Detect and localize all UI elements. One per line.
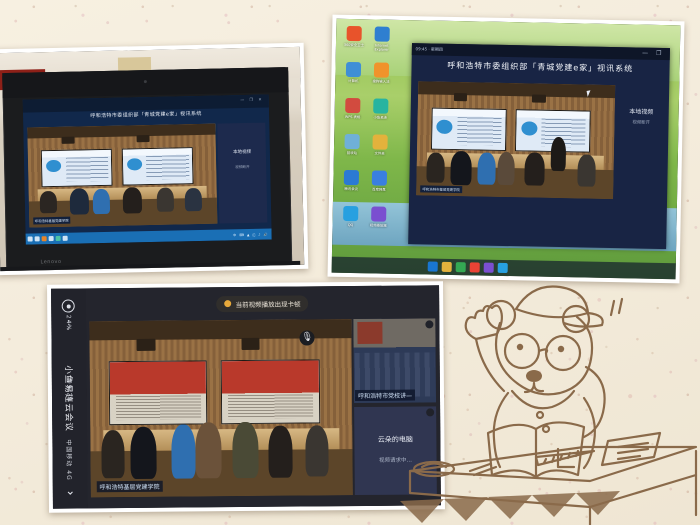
taskbar-app-icon-2[interactable] — [49, 236, 54, 241]
participant-tile-column: 呼和浩特市党校讲— 云朵的电脑 视频请求中… — [353, 318, 438, 495]
projection-screen-left — [431, 108, 506, 151]
desktop-icon-label: 360安全卫士 — [341, 43, 367, 48]
local-video-status: 视频断开 — [218, 164, 266, 170]
app-title: 呼和浩特市委组织部「青城党建e家」视讯系统 — [411, 57, 669, 82]
participant-status: 视频请求中… — [354, 456, 437, 465]
mic-icon[interactable] — [426, 408, 434, 416]
app-icon-xiaoyu — [373, 99, 388, 114]
app-icon-ie — [374, 27, 389, 42]
desktop-icon[interactable]: 回收站 — [339, 132, 365, 166]
taskbar-app-icon-4[interactable] — [470, 262, 480, 272]
window-controls[interactable]: — ❐ — [642, 49, 664, 56]
windows-taskbar[interactable]: 中 ⌨ ▲ ◫ ♪ 🔊 — [26, 228, 272, 245]
taskbar-app-icon-5[interactable] — [484, 262, 494, 272]
participant-name-label: 呼和浩特市党校讲— — [355, 389, 415, 401]
chevron-down-icon[interactable]: ⌄ — [65, 483, 75, 497]
desktop-icon[interactable]: QQ — [337, 204, 363, 238]
local-video-title: 本地视频 — [618, 106, 665, 116]
local-video-title: 本地视频 — [218, 148, 266, 155]
main-video-stage[interactable]: 呼和浩特基层党建学院 — [27, 123, 217, 227]
app-icon-computer — [346, 62, 361, 77]
status-time: 09:28 — [66, 380, 73, 402]
desktop-icon-label: 计算机 — [340, 79, 366, 84]
projector-left — [137, 338, 155, 350]
desktop-icon[interactable]: 腾讯会议 — [338, 168, 364, 202]
desktop-icon-grid[interactable]: 360安全卫士 计算机 WPS 表格 回收站 腾讯会议 QQ — [337, 24, 400, 254]
taskbar-search-icon[interactable] — [35, 236, 40, 241]
desktop-icon[interactable]: 小鱼易连 — [367, 96, 393, 130]
local-video-status: 视频断开 — [618, 119, 665, 126]
taskbar-start-icon[interactable] — [28, 236, 33, 241]
toast-notification: 当前视频播放出现卡顿 — [217, 295, 309, 312]
desktop-icon-label: 回收站 — [339, 151, 365, 156]
desktop-icon-label: Internet Explorer — [369, 43, 395, 52]
laptop-device: — ❐ ✕ 呼和浩特市委组织部「青城党建e家」视讯系统 — [2, 67, 292, 269]
video-name-label: 呼和浩特基层党建学院 — [96, 480, 162, 492]
projection-screen-right — [122, 147, 194, 186]
app-icon-sogou — [374, 63, 389, 78]
desktop-icon-label: 视频播放器 — [365, 223, 391, 228]
toast-text: 当前视频播放出现卡顿 — [236, 298, 301, 309]
record-icon[interactable] — [62, 299, 75, 312]
mic-muted-icon[interactable]: 🎙 — [300, 330, 315, 345]
classroom-scene: 呼和浩特基层党建学院 — [27, 123, 217, 227]
taskbar-app-icon-3[interactable] — [456, 262, 466, 272]
desktop-icon-label: 小鱼易连 — [367, 115, 393, 120]
desktop-icon[interactable]: 视频播放器 — [365, 204, 391, 238]
desktop-icon[interactable]: 360安全卫士 — [341, 24, 367, 58]
projector-left — [454, 93, 468, 101]
app-icon-recycle-bin — [344, 134, 359, 149]
laptop-brand-logo: Lenovo — [40, 259, 61, 265]
local-video-panel[interactable]: 本地视频 视频断开 — [218, 122, 268, 223]
app-icon-folder — [372, 135, 387, 150]
photo-card-laptop[interactable]: — ❐ ✕ 呼和浩特市委组织部「青城党建e家」视讯系统 — [0, 43, 308, 275]
photo-laptop-image: — ❐ ✕ 呼和浩特市委组织部「青城党建e家」视讯系统 — [0, 47, 304, 271]
desktop-icon[interactable]: 搜狗输入法 — [368, 60, 394, 94]
desktop-icon-label: WPS 表格 — [340, 115, 366, 120]
video-name-label: 呼和浩特市基层党建学院 — [420, 185, 461, 193]
desktop-icon[interactable]: Internet Explorer — [369, 24, 395, 58]
local-video-panel[interactable]: 本地视频 视频断开 — [616, 85, 665, 200]
app-icon-baidu-netdisk — [372, 171, 387, 186]
laptop-screen: — ❐ ✕ 呼和浩特市委组织部「青城党建e家」视讯系统 — [23, 95, 272, 245]
phone-screen: ⋮ 24% 小鱼易连云会议 09:28 中国移动 4G ⌄ 当前视频播放出现卡顿 — [51, 285, 441, 508]
desktop-icon-label: 百度网盘 — [366, 187, 392, 192]
status-bar-text: 09:45 · 星期四 — [416, 46, 443, 53]
classroom-scene: 呼和浩特市基层党建学院 — [416, 81, 614, 199]
classroom-scene: 呼和浩特基层党建学院 — [90, 319, 353, 497]
app-icon-qq — [343, 206, 358, 221]
taskbar-app-icon-6[interactable] — [498, 263, 508, 273]
taskbar-tray[interactable]: 中 ⌨ ▲ ◫ ♪ 🔊 — [233, 231, 271, 237]
projector-right — [136, 135, 149, 142]
desktop-icon[interactable]: WPS 表格 — [339, 96, 365, 130]
desktop-icon-label: 文件夹 — [367, 151, 393, 156]
taskbar-app-icon-3[interactable] — [56, 236, 61, 241]
main-video-stage[interactable]: 呼和浩特市基层党建学院 — [416, 81, 614, 199]
desktop-icon[interactable]: 文件夹 — [367, 132, 393, 166]
participant-tile-video[interactable]: 呼和浩特市党校讲— — [353, 318, 437, 403]
projection-screen-left — [41, 148, 113, 187]
taskbar-app-icon-2[interactable] — [442, 262, 452, 272]
photo-card-phone[interactable]: ⋮ 24% 小鱼易连云会议 09:28 中国移动 4G ⌄ 当前视频播放出现卡顿 — [47, 281, 445, 512]
battery-level: 24% — [65, 315, 72, 331]
projection-screen-right — [221, 360, 320, 424]
desktop-icon-label: QQ — [338, 223, 364, 228]
mic-icon[interactable] — [425, 320, 433, 328]
conference-app-window: — ❐ ✕ 呼和浩特市委组织部「青城党建e家」视讯系统 — [23, 95, 272, 245]
projector-right — [532, 95, 546, 103]
video-name-label: 呼和浩特基层党建学院 — [33, 217, 71, 225]
projection-screen-left — [108, 361, 207, 425]
participant-tile-placeholder[interactable]: 云朵的电脑 视频请求中… — [354, 406, 438, 495]
desktop-icon[interactable]: 计算机 — [340, 60, 366, 94]
phone-side-rail: ⋮ 24% 小鱼易连云会议 09:28 中国移动 4G ⌄ — [51, 288, 88, 508]
participant-name: 云朵的电脑 — [354, 434, 437, 445]
conference-app-window[interactable]: 09:45 · 星期四 — ❐ 呼和浩特市委组织部「青城党建e家」视讯系统 — [408, 43, 670, 249]
app-icon-wps — [345, 98, 360, 113]
projector-right — [241, 337, 259, 349]
photo-desktop-image: 360安全卫士 计算机 WPS 表格 回收站 腾讯会议 QQ — [332, 19, 681, 280]
phone-content-area: 当前视频播放出现卡顿 — [86, 285, 441, 508]
app-icon-video-player — [371, 206, 386, 221]
window-controls[interactable]: — ❐ ✕ — [240, 97, 264, 102]
photo-card-desktop[interactable]: 360安全卫士 计算机 WPS 表格 回收站 腾讯会议 QQ — [328, 15, 685, 284]
desktop-icon-label: 腾讯会议 — [338, 187, 364, 192]
taskbar-app-icon-4[interactable] — [63, 236, 68, 241]
photo-phone-image: ⋮ 24% 小鱼易连云会议 09:28 中国移动 4G ⌄ 当前视频播放出现卡顿 — [51, 285, 441, 508]
app-icon-360 — [347, 26, 362, 41]
main-video-tile[interactable]: 呼和浩特基层党建学院 🎙 — [90, 319, 353, 497]
desktop-icon-label: 搜狗输入法 — [368, 79, 394, 84]
laptop-lid: — ❐ ✕ 呼和浩特市委组织部「青城党建e家」视讯系统 — [2, 67, 292, 269]
carrier-label: 中国移动 4G — [65, 439, 74, 480]
warning-icon — [225, 300, 232, 307]
taskbar-app-icon-1[interactable] — [42, 236, 47, 241]
app-icon-tencent-meeting — [344, 170, 359, 185]
webcam-icon — [144, 80, 147, 83]
desktop-icon[interactable]: 百度网盘 — [366, 168, 392, 202]
projector-left — [61, 136, 74, 143]
taskbar-app-icon-1[interactable] — [428, 261, 438, 271]
